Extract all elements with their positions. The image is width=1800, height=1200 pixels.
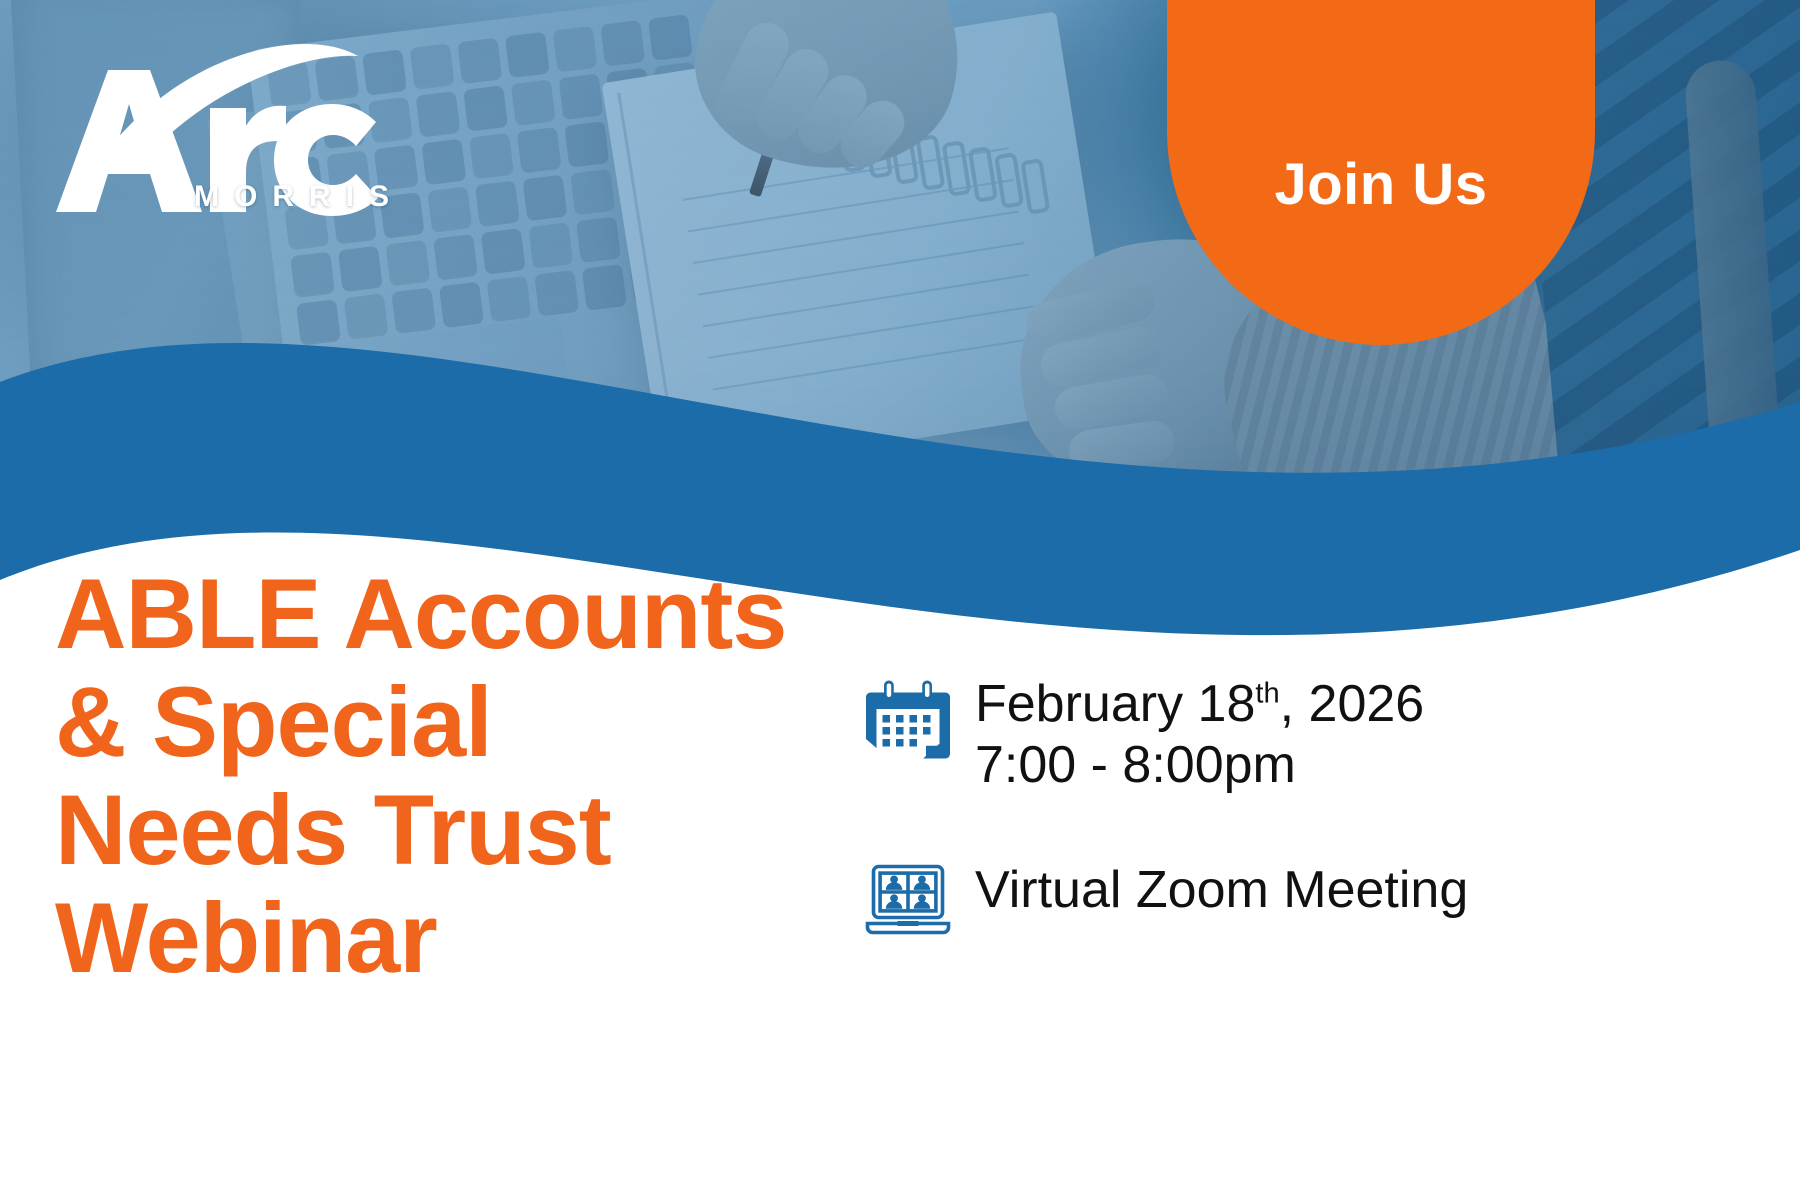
event-details: February 18th, 2026 7:00 - 8:00pm xyxy=(860,672,1760,996)
headline-line-2: & Special xyxy=(55,668,935,776)
join-us-label: Join Us xyxy=(1167,156,1595,214)
arc-morris-logo: MORRIS xyxy=(46,34,446,234)
video-meeting-icon xyxy=(860,846,975,946)
headline-line-4: Webinar xyxy=(55,884,935,992)
event-date-ordinal: th xyxy=(1255,678,1279,710)
calendar-icon xyxy=(860,672,975,772)
video-meeting-icon-glyph xyxy=(860,850,956,946)
detail-row-venue: Virtual Zoom Meeting xyxy=(860,846,1760,946)
detail-row-date: February 18th, 2026 7:00 - 8:00pm xyxy=(860,672,1760,796)
event-date-year: , 2026 xyxy=(1280,675,1425,733)
event-venue: Virtual Zoom Meeting xyxy=(975,860,1468,921)
headline-line-3: Needs Trust xyxy=(55,776,935,884)
detail-text-venue: Virtual Zoom Meeting xyxy=(975,846,1468,921)
event-flyer: MORRIS Join Us ABLE Accounts & Special N… xyxy=(0,0,1800,1200)
calendar-icon-glyph xyxy=(860,676,956,772)
detail-text-date: February 18th, 2026 7:00 - 8:00pm xyxy=(975,672,1424,796)
logo-subtitle: MORRIS xyxy=(194,182,404,212)
event-time: 7:00 - 8:00pm xyxy=(975,735,1424,796)
event-date: February 18th, 2026 xyxy=(975,674,1424,735)
event-date-monthday: February 18 xyxy=(975,675,1255,733)
page-title: ABLE Accounts & Special Needs Trust Webi… xyxy=(55,560,935,992)
headline-line-1: ABLE Accounts xyxy=(55,560,935,668)
